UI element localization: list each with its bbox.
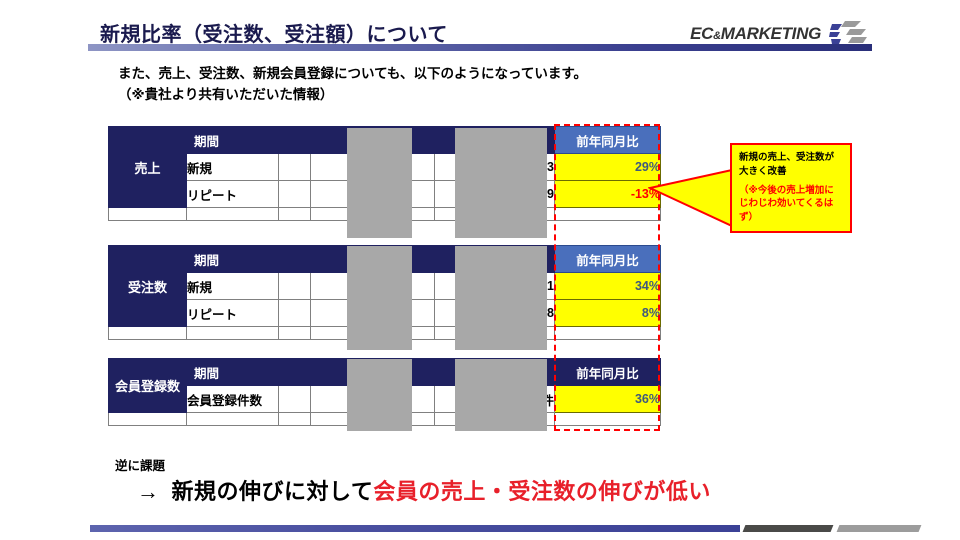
footer-cell [279, 208, 311, 221]
footer-cell [555, 413, 661, 426]
header-spacer-c [409, 359, 435, 386]
value-spacer-b [409, 181, 435, 208]
callout-pointer-icon [648, 168, 734, 233]
logo-text-post: MARKETING [721, 24, 821, 43]
redaction-overlay [347, 246, 412, 350]
redaction-overlay [455, 359, 547, 431]
yoy-header: 前年同月比 [555, 127, 661, 154]
logo-swoosh-icon [828, 20, 868, 48]
callout-box: 新規の売上、受注数が 大きく改善 （※今後の売上増加に じわじわ効いてくるはず） [730, 143, 852, 233]
row-label-new: 新規 [187, 154, 279, 181]
footer-cell [409, 413, 435, 426]
table-category-label: 売上 [109, 127, 187, 208]
redaction-overlay [455, 246, 547, 350]
value-spacer-b [409, 386, 435, 413]
logo-text-amp: & [713, 30, 721, 42]
footer-cell [187, 327, 279, 340]
callout-title: 新規の売上、受注数が 大きく改善 [739, 151, 844, 179]
row-label-repeat: リピート [187, 300, 279, 327]
callout-title-line-1: 新規の売上、受注数が [739, 151, 844, 165]
callout-note: （※今後の売上増加に じわじわ効いてくるはず） [739, 184, 844, 225]
header-spacer-c [409, 246, 435, 273]
row-label-registrations: 会員登録件数 [187, 386, 279, 413]
footer-cell [555, 208, 661, 221]
yoy-value-registrations: 36% [555, 386, 661, 413]
yoy-value-repeat: 8% [555, 300, 661, 327]
row-label-new: 新規 [187, 273, 279, 300]
yoy-value-new: 34% [555, 273, 661, 300]
value-spacer-a [279, 386, 311, 413]
footer-cell [109, 413, 187, 426]
footer-cell [279, 413, 311, 426]
brand-logo: EC&MARKETING [690, 20, 868, 48]
lead-line-2: （※貴社より共有いただいた情報） [118, 85, 587, 106]
footer-cell [409, 208, 435, 221]
table-category-label: 受注数 [109, 246, 187, 327]
footer-cell [187, 208, 279, 221]
footer-bar-blue [90, 525, 740, 532]
footer-cell [109, 327, 187, 340]
header-spacer-a [279, 359, 311, 386]
redaction-overlay [455, 128, 547, 238]
footer-cell [109, 208, 187, 221]
callout-note-line-2: じわじわ効いてくるはず） [739, 197, 844, 225]
period-header: 期間 [187, 246, 279, 273]
footer-bar-light [837, 525, 922, 532]
callout-title-line-2: 大きく改善 [739, 165, 844, 179]
yoy-header: 前年同月比 [555, 246, 661, 273]
value-spacer-b [409, 273, 435, 300]
value-spacer-b [409, 154, 435, 181]
footer-cell [409, 327, 435, 340]
conclusion-text-black: 新規の伸びに対して [172, 479, 374, 504]
yoy-value-new: 29% [555, 154, 661, 181]
period-header: 期間 [187, 127, 279, 154]
value-spacer-a [279, 300, 311, 327]
value-spacer-b [409, 300, 435, 327]
table-category-label: 会員登録数 [109, 359, 187, 413]
value-spacer-a [279, 154, 311, 181]
period-header: 期間 [187, 359, 279, 386]
footer-cell [555, 327, 661, 340]
header-spacer-c [409, 127, 435, 154]
lead-line-1: また、売上、受注数、新規会員登録についても、以下のようになっています。 [118, 64, 587, 85]
footer-cell [187, 413, 279, 426]
value-spacer-a [279, 273, 311, 300]
arrow-right-icon: → [137, 479, 160, 504]
conclusion-statement: →新規の伸びに対して会員の売上・受注数の伸びが低い [137, 474, 711, 506]
callout-note-line-1: （※今後の売上増加に [739, 184, 844, 198]
conclusion-text-accent: 会員の売上・受注数の伸びが低い [373, 479, 711, 504]
page-title: 新規比率（受注数、受注額）について [100, 18, 448, 47]
redaction-overlay [347, 128, 412, 238]
footer-bar-dark [743, 525, 834, 532]
redaction-overlay [347, 359, 412, 431]
lead-paragraph: また、売上、受注数、新規会員登録についても、以下のようになっています。 （※貴社… [118, 64, 587, 106]
header-spacer-a [279, 246, 311, 273]
logo-wordmark: EC&MARKETING [690, 24, 821, 44]
header-spacer-a [279, 127, 311, 154]
logo-text-pre: EC [690, 24, 713, 43]
issue-label: 逆に課題 [115, 455, 165, 474]
value-spacer-a [279, 181, 311, 208]
row-label-repeat: リピート [187, 181, 279, 208]
yoy-value-repeat: -13% [555, 181, 661, 208]
yoy-header: 前年同月比 [555, 359, 661, 386]
footer-cell [279, 327, 311, 340]
